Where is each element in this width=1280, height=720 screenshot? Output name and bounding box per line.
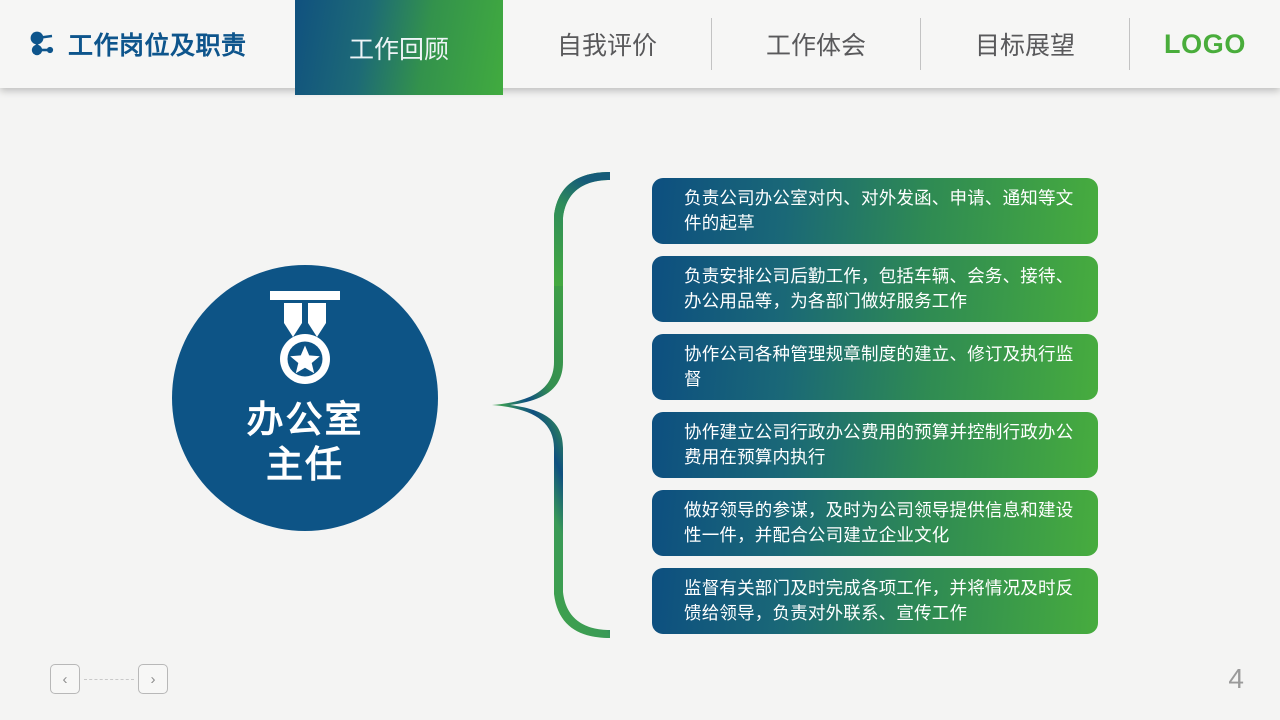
- list-item[interactable]: 监督有关部门及时完成各项工作，并将情况及时反馈给领导，负责对外联系、宣传工作: [652, 568, 1098, 634]
- nav-tab-work-experience[interactable]: 工作体会: [712, 0, 920, 88]
- nav-tab-label: 目标展望: [975, 26, 1075, 62]
- list-item[interactable]: 做好领导的参谋，及时为公司领导提供信息和建设性一件，并配合公司建立企业文化: [652, 490, 1098, 556]
- nav-tab-goal-outlook[interactable]: 目标展望: [921, 0, 1129, 88]
- top-navigation-bar: 工作岗位及职责 工作回顾 自我评价 工作体会 目标展望 LOGO: [0, 0, 1280, 88]
- brace-connector: [486, 166, 616, 644]
- responsibility-text: 协作建立公司行政办公费用的预算并控制行政办公费用在预算内执行: [684, 420, 1080, 470]
- slide-number: 4: [1228, 663, 1244, 695]
- medal-award-icon: [262, 291, 348, 391]
- responsibility-list: 负责公司办公室对内、对外发函、申请、通知等文件的起草 负责安排公司后勤工作，包括…: [652, 178, 1098, 646]
- responsibility-text: 做好领导的参谋，及时为公司领导提供信息和建设性一件，并配合公司建立企业文化: [684, 498, 1080, 548]
- role-node-title: 办公室 主任: [247, 397, 364, 487]
- slide-pager: ‹ ›: [50, 663, 168, 695]
- responsibility-text: 负责公司办公室对内、对外发函、申请、通知等文件的起草: [684, 186, 1080, 236]
- brand-area[interactable]: 工作岗位及职责: [0, 0, 295, 88]
- role-node-title-line1: 办公室: [247, 397, 364, 442]
- responsibility-text: 协作公司各种管理规章制度的建立、修订及执行监督: [684, 342, 1080, 392]
- molecule-network-icon: [26, 27, 60, 61]
- list-item[interactable]: 负责安排公司后勤工作，包括车辆、会务、接待、办公用品等，为各部门做好服务工作: [652, 256, 1098, 322]
- role-node-circle[interactable]: 办公室 主任: [172, 265, 438, 531]
- slide-content-area: 办公室 主任: [0, 88, 1280, 720]
- curly-brace-icon: [486, 166, 616, 644]
- pager-dashed-line: [84, 679, 134, 680]
- nav-tab-label: 工作体会: [766, 26, 866, 62]
- nav-tab-label: 自我评价: [557, 26, 657, 62]
- nav-inner: 工作岗位及职责 工作回顾 自我评价 工作体会 目标展望 LOGO: [0, 0, 1280, 88]
- list-item[interactable]: 协作建立公司行政办公费用的预算并控制行政办公费用在预算内执行: [652, 412, 1098, 478]
- logo-area[interactable]: LOGO: [1130, 0, 1280, 88]
- responsibility-text: 监督有关部门及时完成各项工作，并将情况及时反馈给领导，负责对外联系、宣传工作: [684, 576, 1080, 626]
- next-slide-button[interactable]: ›: [138, 664, 168, 694]
- nav-tab-work-review[interactable]: 工作回顾: [295, 0, 503, 95]
- prev-slide-button[interactable]: ‹: [50, 664, 80, 694]
- chevron-left-icon: ‹: [63, 671, 68, 688]
- responsibility-text: 负责安排公司后勤工作，包括车辆、会务、接待、办公用品等，为各部门做好服务工作: [684, 264, 1080, 314]
- logo-text: LOGO: [1164, 29, 1246, 60]
- brand-label: 工作岗位及职责: [68, 26, 247, 62]
- nav-tab-label: 工作回顾: [349, 30, 449, 66]
- chevron-right-icon: ›: [151, 671, 156, 688]
- list-item[interactable]: 协作公司各种管理规章制度的建立、修订及执行监督: [652, 334, 1098, 400]
- nav-tab-self-evaluation[interactable]: 自我评价: [503, 0, 711, 88]
- list-item[interactable]: 负责公司办公室对内、对外发函、申请、通知等文件的起草: [652, 178, 1098, 244]
- role-node-title-line2: 主任: [247, 442, 364, 487]
